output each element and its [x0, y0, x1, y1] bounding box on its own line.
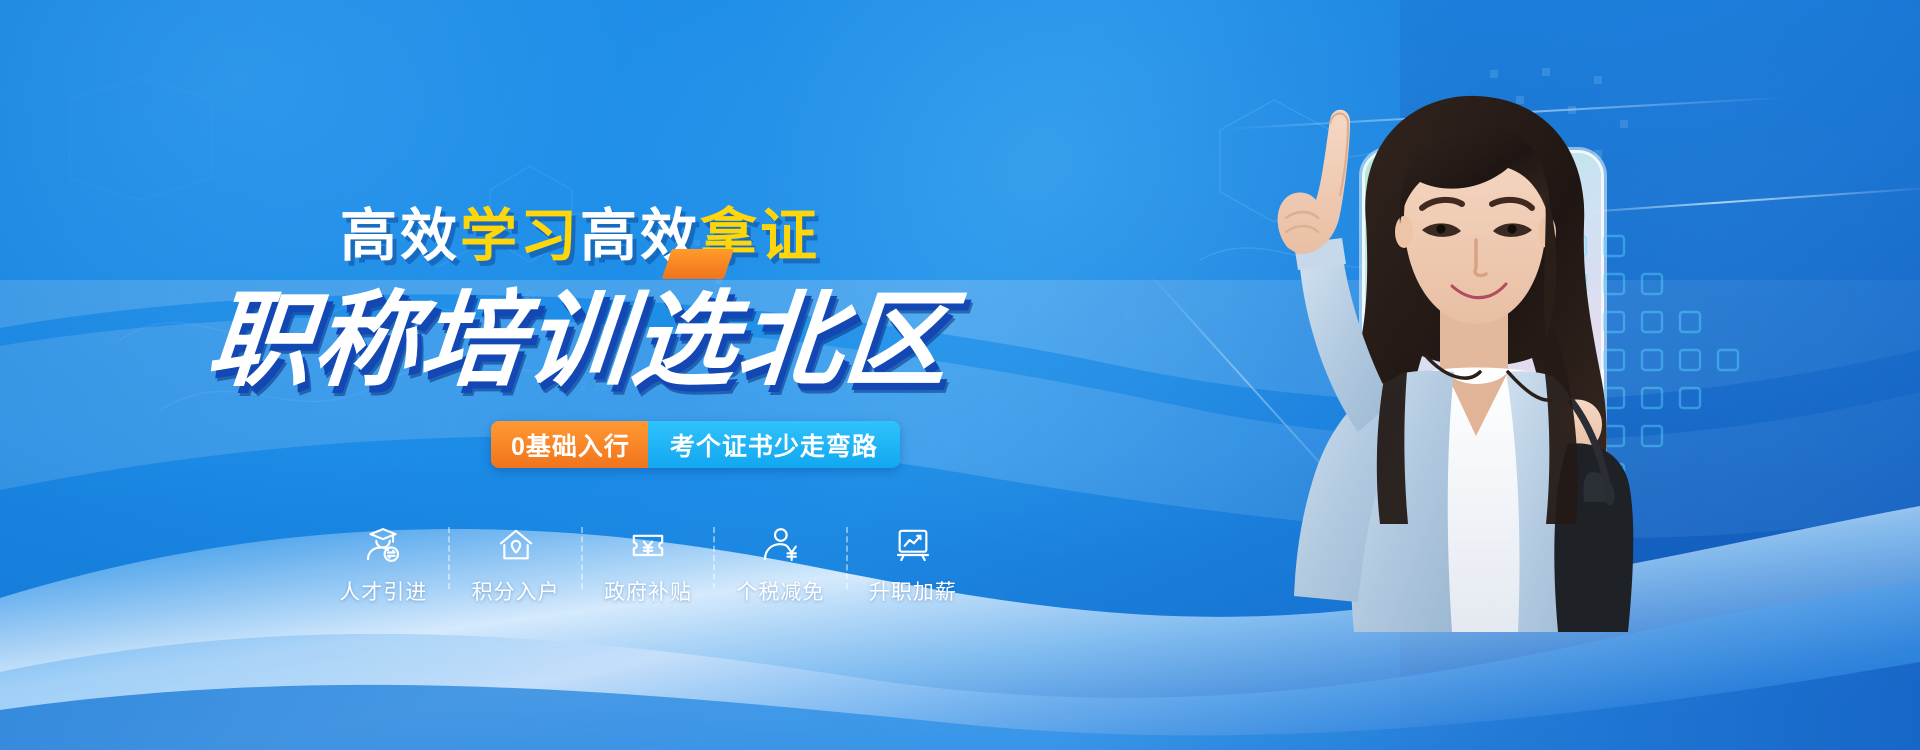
feature-item-subsidy[interactable]: 政府补贴: [583, 525, 713, 606]
headline: 职称培训选北区: [202, 255, 957, 406]
headline-accent-block: [662, 249, 734, 279]
feature-label: 政府补贴: [604, 576, 692, 606]
headline-text: 职称培训选北区: [203, 283, 955, 399]
banner-copy: 高效学习高效拿证 职称培训选北区 0基础入行 考个证书少走弯路: [0, 0, 1160, 750]
feature-label: 个税减免: [736, 576, 824, 606]
person-yuan-icon: [760, 525, 800, 565]
feature-item-tax[interactable]: 个税减免: [715, 525, 845, 606]
model-photo: [1240, 72, 1710, 632]
feature-item-household[interactable]: 积分入户: [450, 525, 580, 606]
feature-item-promotion[interactable]: 升职加薪: [848, 525, 978, 606]
house-pin-icon: [496, 525, 536, 565]
promo-banner: 2 39: [0, 0, 1920, 750]
feature-label: 积分入户: [472, 576, 560, 606]
chart-board-icon: [893, 525, 933, 565]
feature-label: 人才引进: [339, 576, 427, 606]
feature-label: 升职加薪: [869, 576, 957, 606]
feature-row: 人才引进 积分入户: [318, 525, 978, 620]
badge-left-label: 0基础入行: [491, 421, 648, 468]
headline-wrapper: 职称培训选北区: [0, 255, 1160, 406]
tagline-badge[interactable]: 0基础入行 考个证书少走弯路: [491, 421, 900, 468]
badge-right-label: 考个证书少走弯路: [648, 421, 900, 468]
coupon-yuan-icon: [628, 525, 668, 565]
feature-item-talent[interactable]: 人才引进: [318, 525, 448, 606]
graduate-person-icon: [363, 525, 403, 565]
